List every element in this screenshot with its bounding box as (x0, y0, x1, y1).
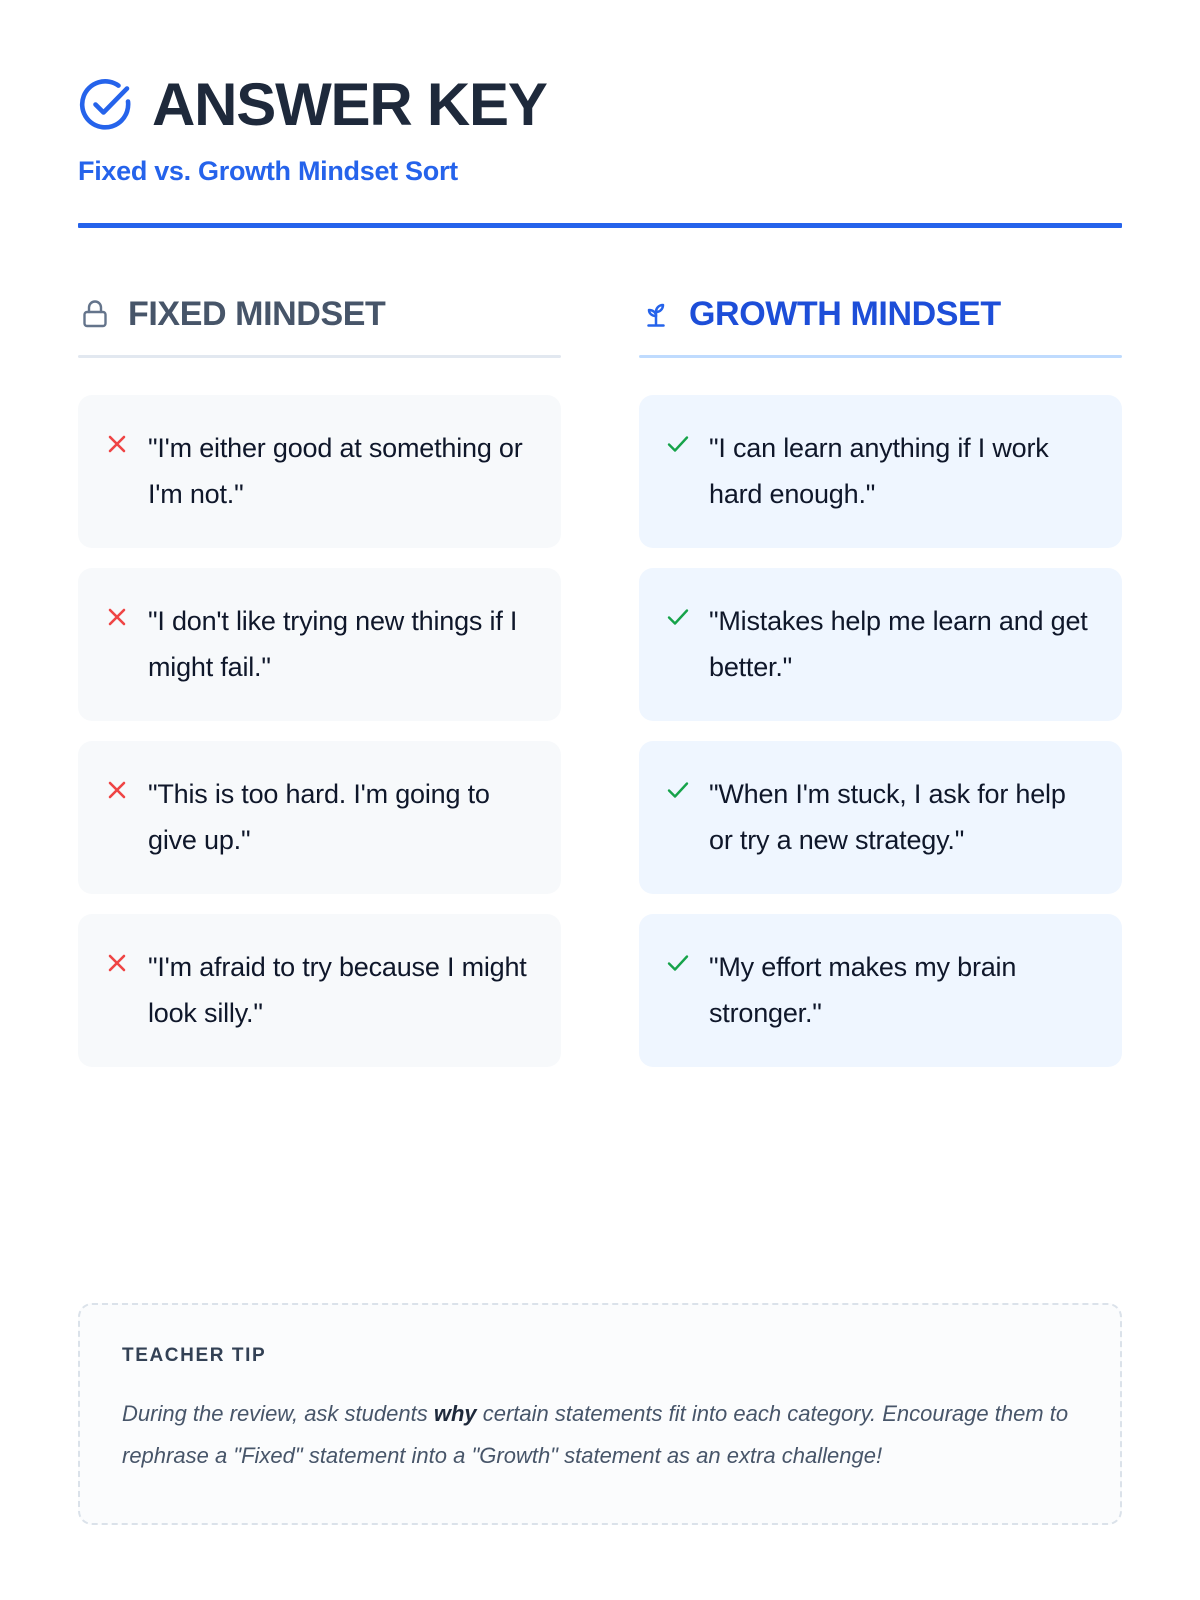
x-mark-icon (104, 773, 130, 807)
list-item[interactable]: "When I'm stuck, I ask for help or try a… (639, 741, 1122, 894)
answer-key-page: ANSWER KEY Fixed vs. Growth Mindset Sort… (0, 0, 1200, 1600)
check-mark-icon (665, 773, 691, 807)
tip-text-before: During the review, ask students (122, 1401, 434, 1426)
sort-columns: FIXED MINDSET "I'm either good at someth… (78, 290, 1122, 1067)
column-header-growth: GROWTH MINDSET (639, 290, 1122, 338)
teacher-tip-label: TEACHER TIP (122, 1345, 1078, 1367)
list-item[interactable]: "My effort makes my brain stronger." (639, 914, 1122, 1067)
sprout-icon (639, 297, 673, 331)
tip-text-emphasis: why (434, 1401, 477, 1426)
statement-text: "I'm afraid to try because I might look … (148, 944, 535, 1037)
list-item[interactable]: "I'm afraid to try because I might look … (78, 914, 561, 1067)
column-rule-growth (639, 355, 1122, 358)
list-item[interactable]: "Mistakes help me learn and get better." (639, 568, 1122, 721)
statement-text: "Mistakes help me learn and get better." (709, 598, 1096, 691)
statement-text: "When I'm stuck, I ask for help or try a… (709, 771, 1096, 864)
lock-icon (78, 297, 112, 331)
list-item[interactable]: "I don't like trying new things if I mig… (78, 568, 561, 721)
teacher-tip-box: TEACHER TIP During the review, ask stude… (78, 1303, 1122, 1525)
title-row: ANSWER KEY (78, 68, 1122, 142)
column-fixed-mindset: FIXED MINDSET "I'm either good at someth… (78, 290, 561, 1067)
column-header-fixed: FIXED MINDSET (78, 290, 561, 338)
statement-text: "I don't like trying new things if I mig… (148, 598, 535, 691)
check-mark-icon (665, 946, 691, 980)
check-circle-icon (78, 77, 134, 133)
column-growth-mindset: GROWTH MINDSET "I can learn anything if … (639, 290, 1122, 1067)
column-rule-fixed (78, 355, 561, 358)
list-item[interactable]: "This is too hard. I'm going to give up.… (78, 741, 561, 894)
x-mark-icon (104, 946, 130, 980)
check-mark-icon (665, 427, 691, 461)
page-title: ANSWER KEY (152, 75, 547, 135)
header-divider (78, 223, 1122, 228)
statement-text: "This is too hard. I'm going to give up.… (148, 771, 535, 864)
column-title-fixed: FIXED MINDSET (128, 295, 385, 334)
x-mark-icon (104, 600, 130, 634)
statement-text: "I'm either good at something or I'm not… (148, 425, 535, 518)
statement-text: "My effort makes my brain stronger." (709, 944, 1096, 1037)
list-item[interactable]: "I'm either good at something or I'm not… (78, 395, 561, 548)
column-title-growth: GROWTH MINDSET (689, 295, 1001, 334)
card-list-growth: "I can learn anything if I work hard eno… (639, 395, 1122, 1067)
x-mark-icon (104, 427, 130, 461)
list-item[interactable]: "I can learn anything if I work hard eno… (639, 395, 1122, 548)
page-subtitle: Fixed vs. Growth Mindset Sort (78, 156, 1122, 187)
page-header: ANSWER KEY Fixed vs. Growth Mindset Sort (78, 0, 1122, 228)
statement-text: "I can learn anything if I work hard eno… (709, 425, 1096, 518)
card-list-fixed: "I'm either good at something or I'm not… (78, 395, 561, 1067)
check-mark-icon (665, 600, 691, 634)
teacher-tip-body: During the review, ask students why cert… (122, 1393, 1078, 1477)
